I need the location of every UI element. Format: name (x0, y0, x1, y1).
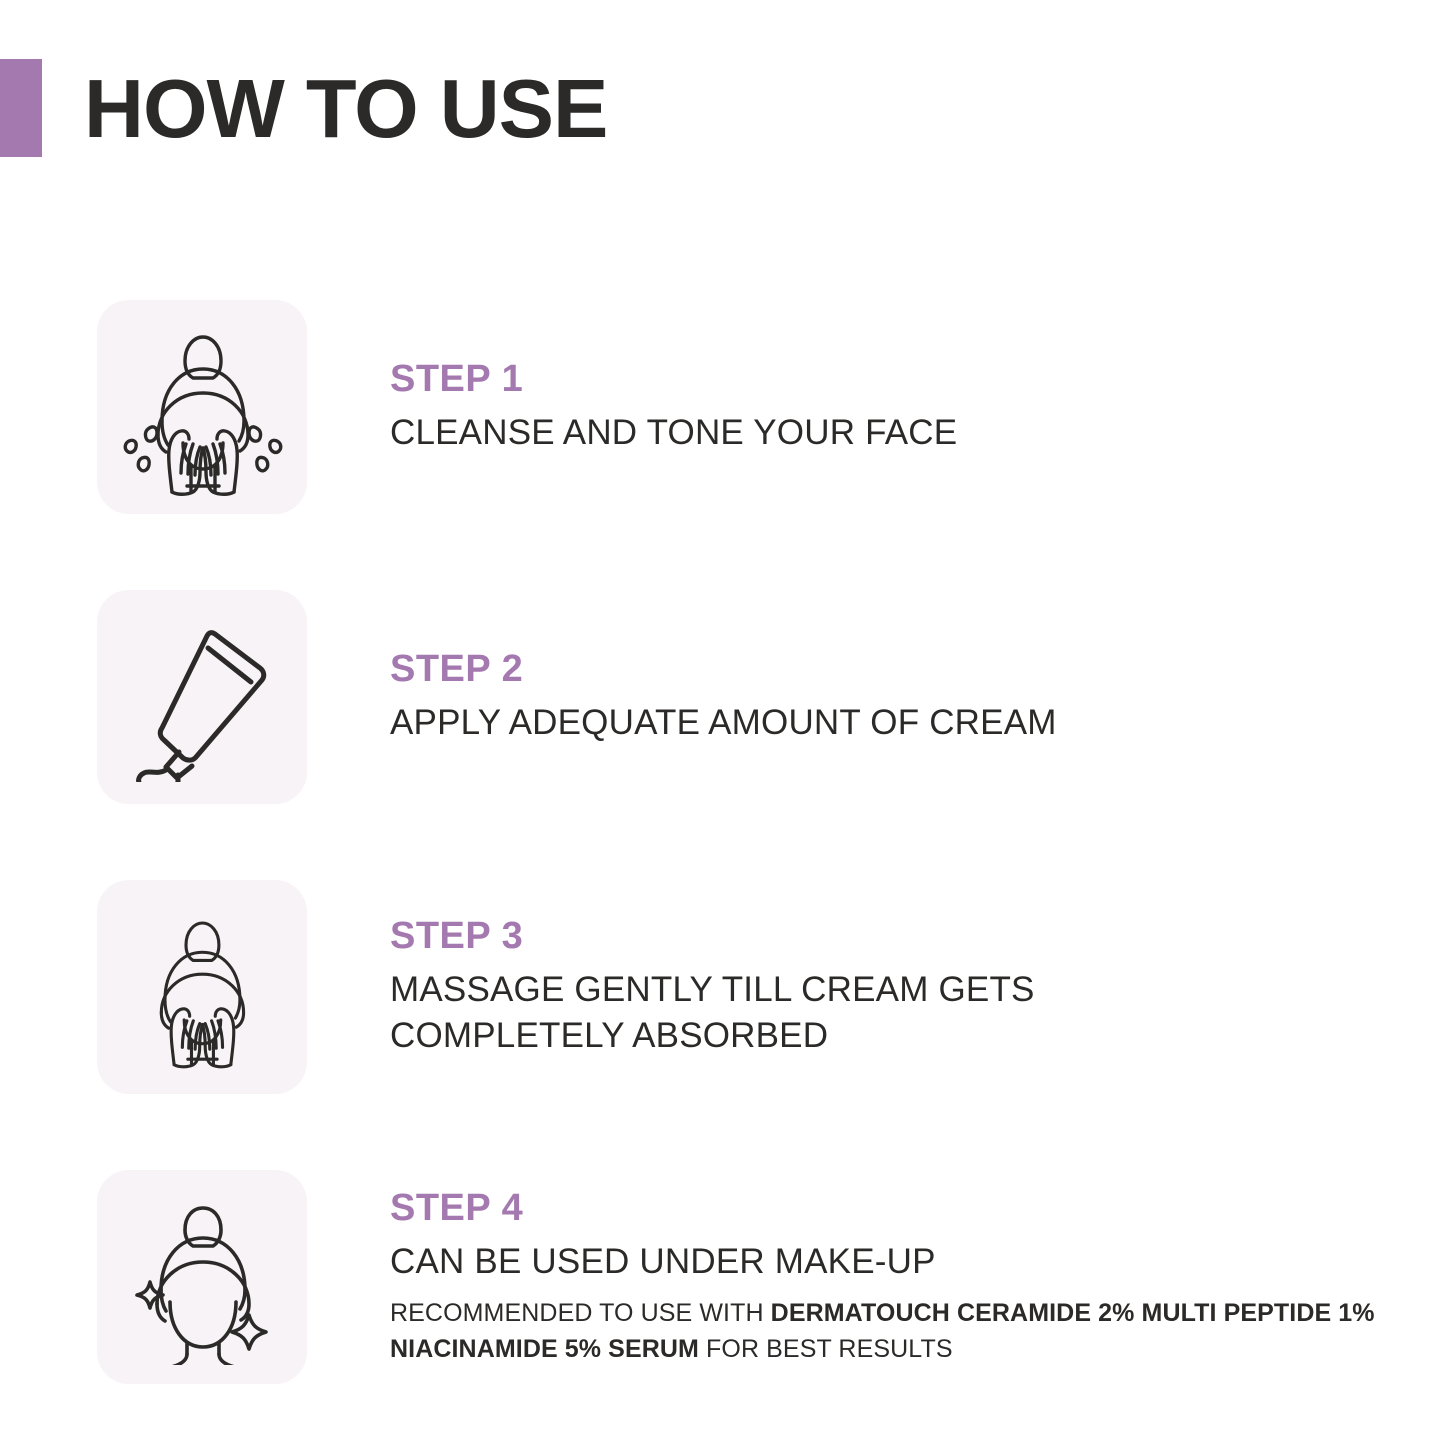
step-heading: STEP 2 (390, 648, 1385, 692)
step-4-icon-tile (97, 1170, 307, 1384)
step-row: STEP 1 CLEANSE AND TONE YOUR FACE (0, 262, 1445, 552)
glowing-face-icon (115, 1190, 290, 1365)
steps-list: STEP 1 CLEANSE AND TONE YOUR FACE (0, 262, 1445, 1422)
step-row: STEP 4 CAN BE USED UNDER MAKE-UP RECOMME… (0, 1132, 1445, 1422)
step-4-text: STEP 4 CAN BE USED UNDER MAKE-UP RECOMME… (390, 1187, 1445, 1367)
step-heading: STEP 3 (390, 915, 1385, 959)
step-heading: STEP 1 (390, 358, 1385, 402)
step-description: MASSAGE GENTLY TILL CREAM GETS COMPLETEL… (390, 967, 1270, 1059)
cream-tube-icon (120, 612, 285, 782)
step-description: CLEANSE AND TONE YOUR FACE (390, 410, 1270, 456)
step-2-text: STEP 2 APPLY ADEQUATE AMOUNT OF CREAM (390, 648, 1445, 746)
step-row: STEP 2 APPLY ADEQUATE AMOUNT OF CREAM (0, 552, 1445, 842)
note-prefix: RECOMMENDED TO USE WITH (390, 1299, 771, 1327)
step-heading: STEP 4 (390, 1187, 1385, 1231)
step-1-text: STEP 1 CLEANSE AND TONE YOUR FACE (390, 358, 1445, 456)
step-description: APPLY ADEQUATE AMOUNT OF CREAM (390, 700, 1270, 746)
step-recommendation-note: RECOMMENDED TO USE WITH DERMATOUCH CERAM… (390, 1295, 1385, 1368)
face-wash-icon (115, 317, 290, 497)
note-suffix: FOR BEST RESULTS (699, 1335, 953, 1363)
face-massage-icon (122, 897, 282, 1077)
step-3-text: STEP 3 MASSAGE GENTLY TILL CREAM GETS CO… (390, 915, 1445, 1059)
step-3-icon-tile (97, 880, 307, 1094)
page-header: HOW TO USE (0, 58, 1445, 158)
step-2-icon-tile (97, 590, 307, 804)
step-1-icon-tile (97, 300, 307, 514)
page-title: HOW TO USE (84, 67, 607, 150)
accent-bar (0, 59, 42, 157)
step-row: STEP 3 MASSAGE GENTLY TILL CREAM GETS CO… (0, 842, 1445, 1132)
how-to-use-page: HOW TO USE (0, 0, 1445, 1445)
step-description: CAN BE USED UNDER MAKE-UP (390, 1239, 1270, 1285)
